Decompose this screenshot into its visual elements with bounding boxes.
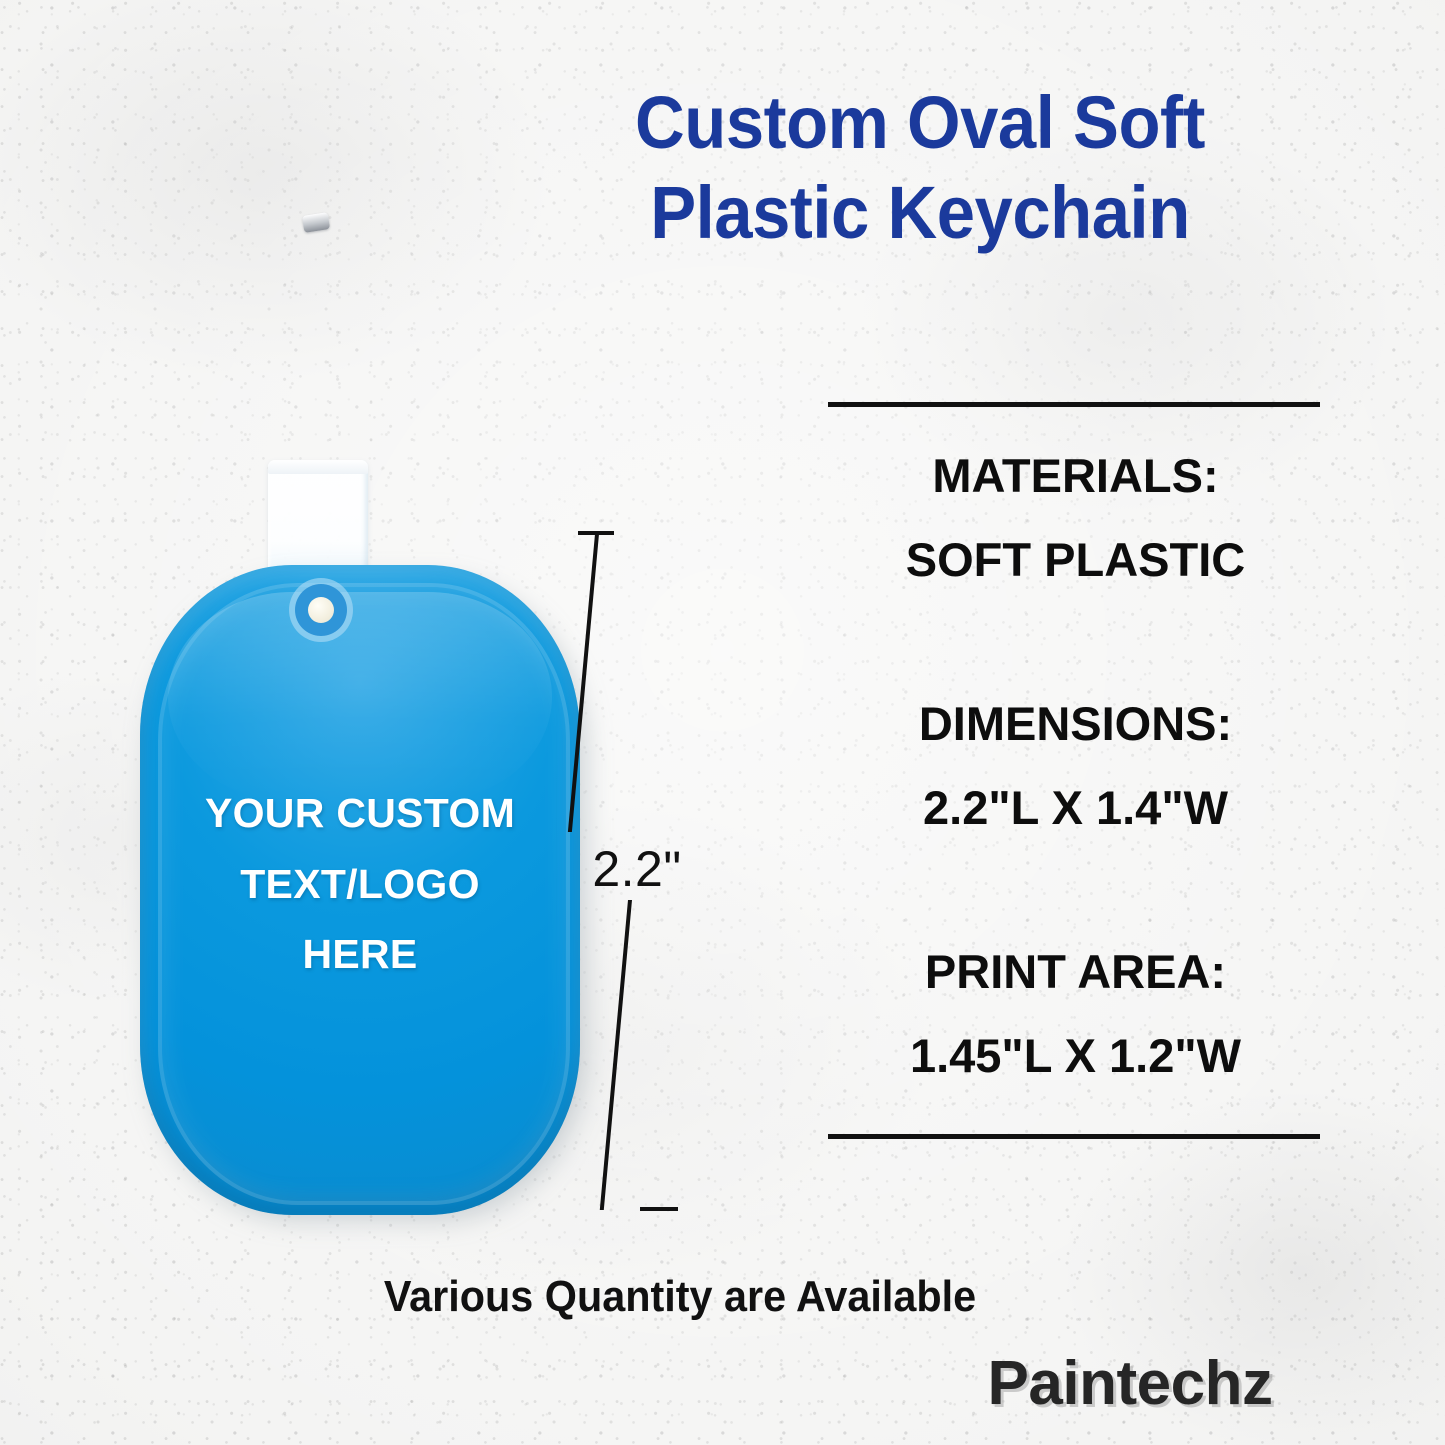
spec-print-area-label: PRINT AREA: [818, 948, 1333, 995]
spec-materials: MATERIALS: SOFT PLASTIC [818, 452, 1333, 583]
dimension-cap-bottom [640, 1207, 678, 1211]
spec-divider-bottom [828, 1134, 1320, 1139]
keytag-custom-text: YOUR CUSTOM TEXT/LOGO HERE [150, 778, 570, 990]
grommet-hole [308, 597, 334, 623]
quantity-note: Various Quantity are Available [229, 1272, 1131, 1322]
keychain-strap-fold [268, 460, 368, 474]
product-title-line-1: Custom Oval Soft [529, 78, 1310, 168]
keytag-gloss [168, 592, 552, 802]
product-title: Custom Oval Soft Plastic Keychain [529, 78, 1310, 259]
product-infographic: Custom Oval Soft Plastic Keychain YOUR C… [0, 0, 1445, 1445]
key-ring [160, 212, 450, 502]
spec-print-area-value: 1.45"L X 1.2"W [818, 1032, 1333, 1079]
spec-materials-value: SOFT PLASTIC [818, 536, 1333, 583]
keytag-text-line-2: TEXT/LOGO [150, 849, 570, 920]
dimension-label: 2.2" [572, 840, 702, 898]
spec-divider-top [828, 402, 1320, 407]
product-title-line-2: Plastic Keychain [529, 168, 1310, 258]
key-ring-highlight [160, 212, 450, 502]
spec-dimensions-value: 2.2"L X 1.4"W [818, 784, 1333, 831]
spec-dimensions-label: DIMENSIONS: [818, 700, 1333, 747]
keytag-text-line-1: YOUR CUSTOM [150, 778, 570, 849]
spec-materials-label: MATERIALS: [818, 452, 1333, 499]
brand-wordmark: Paintechz [900, 1348, 1360, 1419]
spec-print-area: PRINT AREA: 1.45"L X 1.2"W [818, 948, 1333, 1079]
spec-dimensions: DIMENSIONS: 2.2"L X 1.4"W [818, 700, 1333, 831]
keytag-text-line-3: HERE [150, 919, 570, 990]
